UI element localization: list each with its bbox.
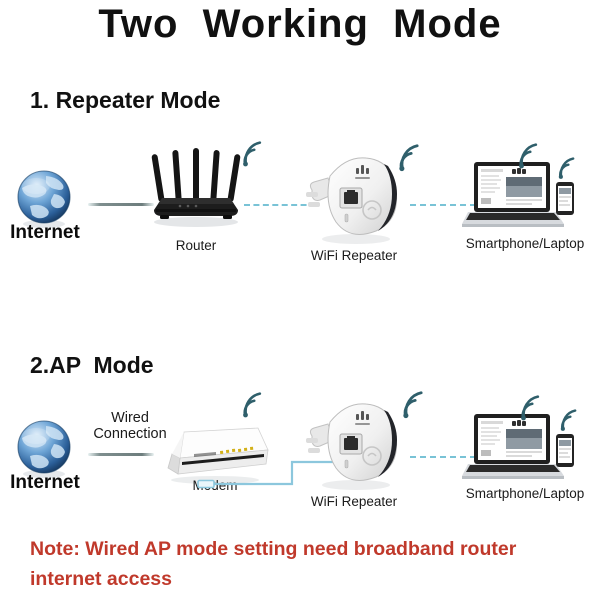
node-label-internet: Internet (0, 472, 90, 494)
section-heading-repeater-mode: 1. Repeater Mode (30, 87, 220, 114)
page-title: Two Working Mode (0, 2, 600, 47)
node-label-wifi-repeater: WiFi Repeater (296, 248, 412, 263)
globe-icon (10, 418, 78, 480)
note-line-1: Note: Wired AP mode setting need broadba… (30, 534, 590, 564)
wifi-signal-icon (240, 142, 270, 170)
link-repeater-clients (410, 204, 476, 206)
wifi-signal-icon (518, 396, 548, 424)
link-internet-router (88, 203, 154, 206)
note-line-2: internet access (30, 564, 590, 594)
wifi-signal-icon (400, 392, 432, 422)
node-label-router: Router (146, 238, 246, 253)
section-heading-ap-mode: 2.AP Mode (30, 352, 154, 379)
wifi-signal-icon (240, 393, 270, 421)
globe-icon (10, 168, 78, 230)
wifi-signal-icon (396, 145, 428, 175)
note-text: Note: Wired AP mode setting need broadba… (30, 534, 590, 594)
node-label-wifi-repeater: WiFi Repeater (296, 494, 412, 509)
diagram-canvas: Two Working Mode 1. Repeater Mode Intern… (0, 0, 600, 600)
link-internet-modem (88, 453, 154, 456)
link-repeater-clients (410, 456, 476, 458)
node-label-clients: Smartphone/Laptop (450, 236, 600, 251)
wifi-signal-icon (516, 144, 546, 172)
node-label-internet: Internet (0, 222, 90, 244)
wifi-repeater-icon (300, 392, 408, 492)
wifi-signal-icon (558, 410, 584, 434)
wifi-signal-icon (556, 158, 582, 182)
node-label-clients: Smartphone/Laptop (450, 486, 600, 501)
wifi-repeater-icon (300, 146, 408, 246)
router-icon (146, 148, 246, 230)
